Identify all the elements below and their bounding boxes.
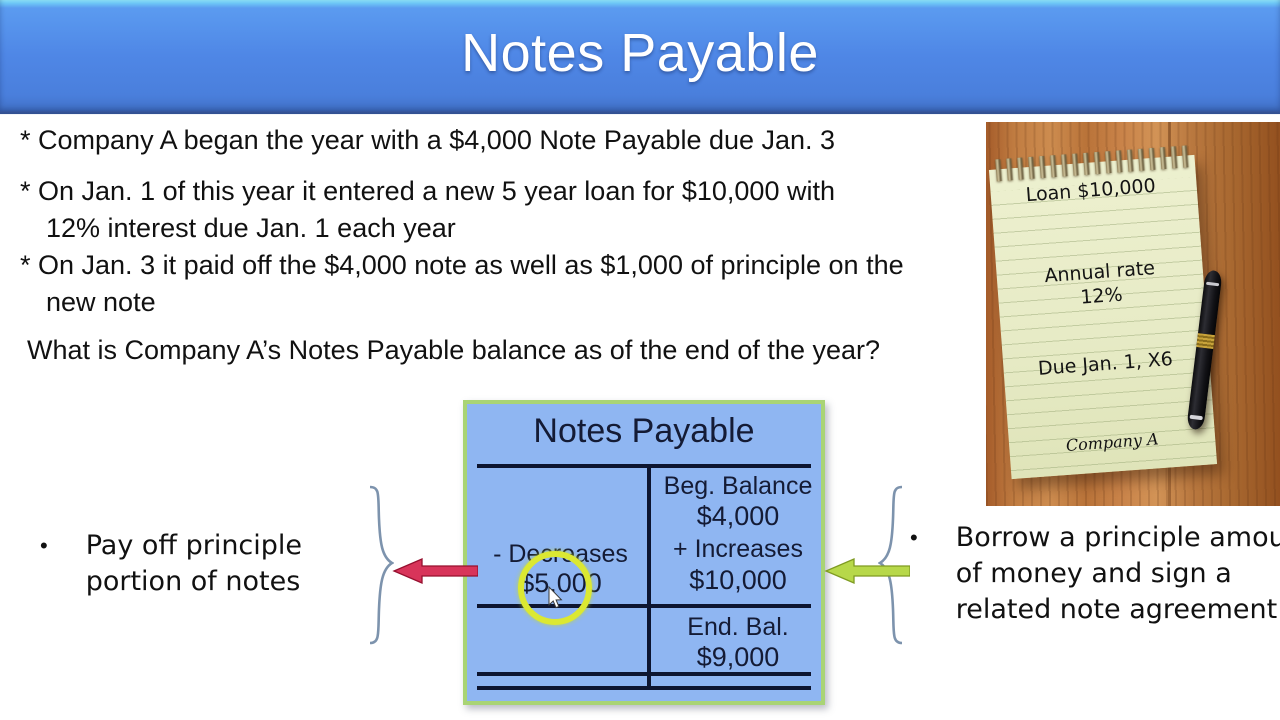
title-banner: Notes Payable bbox=[0, 0, 1280, 114]
left-caption-bullet: • bbox=[40, 528, 48, 600]
right-pointing-green-arrow-icon bbox=[824, 558, 910, 584]
left-caption-line-1: Pay off principle bbox=[86, 528, 302, 564]
t-account-middle-rule bbox=[477, 604, 811, 608]
left-caption: • Pay off principle portion of notes bbox=[40, 528, 370, 600]
page-title: Notes Payable bbox=[461, 26, 819, 86]
bullet-line-3: * On Jan. 3 it paid off the $4,000 note … bbox=[20, 247, 970, 284]
beginning-balance-value: $4,000 bbox=[651, 501, 825, 532]
spiral-notepad: Loan $10,000 Annual rate 12% Due Jan. 1,… bbox=[989, 155, 1217, 479]
debit-decreases-label: - Decreases bbox=[473, 540, 648, 569]
notepad-photo: Loan $10,000 Annual rate 12% Due Jan. 1,… bbox=[986, 122, 1280, 506]
ending-balance-label: End. Bal. bbox=[651, 613, 825, 642]
bullet-line-2-cont: 12% interest due Jan. 1 each year bbox=[20, 210, 970, 247]
bullet-line-1: * Company A began the year with a $4,000… bbox=[20, 122, 970, 159]
right-caption-line-2: of money and sign a bbox=[956, 556, 1280, 592]
question-text: What is Company A’s Notes Payable balanc… bbox=[27, 335, 880, 366]
beginning-balance-label: Beg. Balance bbox=[651, 472, 825, 501]
left-caption-line-2: portion of notes bbox=[86, 564, 302, 600]
t-account-box: Notes Payable - Decreases $5,000 Beg. Ba… bbox=[463, 400, 825, 705]
left-curly-brace-icon bbox=[368, 485, 394, 645]
bullet-list: * Company A began the year with a $4,000… bbox=[20, 122, 970, 321]
slide-canvas: Notes Payable * Company A began the year… bbox=[0, 0, 1280, 720]
ending-balance-value: $9,000 bbox=[651, 642, 825, 673]
debit-amount-value: $5,000 bbox=[473, 568, 648, 599]
left-caption-body: Pay off principle portion of notes bbox=[86, 528, 302, 600]
bullet-line-3-cont: new note bbox=[20, 284, 970, 321]
left-pointing-red-arrow-icon bbox=[392, 558, 478, 584]
t-account-title: Notes Payable bbox=[467, 412, 821, 451]
bullet-line-2: * On Jan. 1 of this year it entered a ne… bbox=[20, 173, 970, 210]
t-account-top-rule bbox=[477, 464, 811, 468]
pen-tip bbox=[1190, 415, 1203, 421]
increases-label: + Increases bbox=[651, 535, 825, 564]
right-caption-line-1: Borrow a principle amount bbox=[956, 520, 1280, 556]
t-account-bottom-rule-2 bbox=[477, 686, 811, 690]
right-caption-body: Borrow a principle amount of money and s… bbox=[956, 520, 1280, 628]
right-caption-line-3: related note agreement bbox=[956, 592, 1280, 628]
right-caption: • Borrow a principle amount of money and… bbox=[910, 520, 1280, 628]
right-caption-bullet: • bbox=[910, 520, 918, 628]
increases-value: $10,000 bbox=[651, 565, 825, 596]
